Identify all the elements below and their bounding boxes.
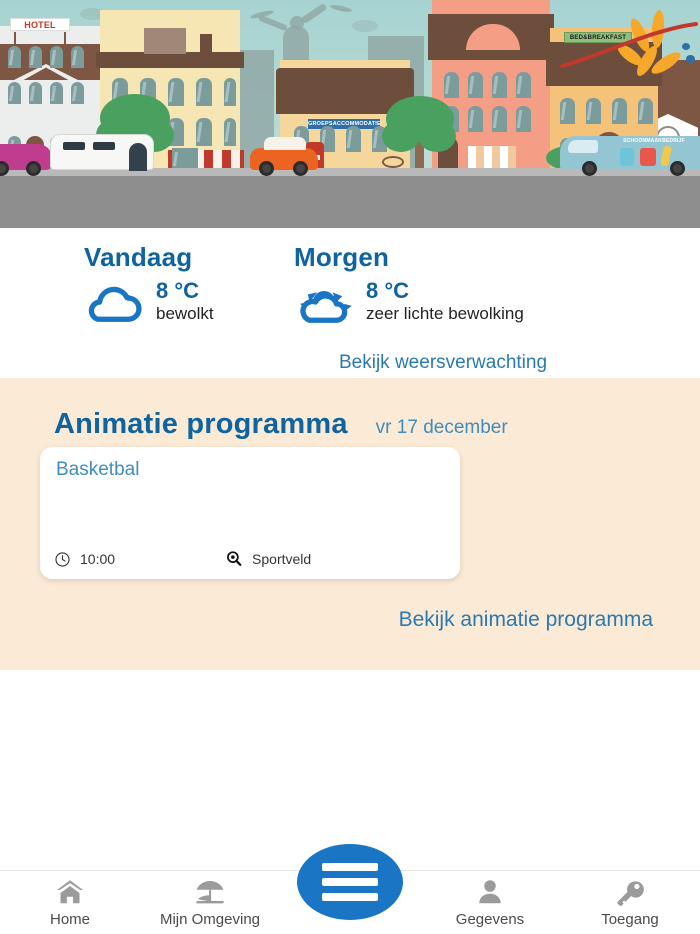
window (8, 46, 21, 68)
weather-tomorrow-body: 8 °C zeer lichte bewolking (294, 279, 624, 325)
beach-umbrella-icon (193, 877, 227, 907)
wheel (293, 161, 308, 176)
nav-label-mijn-omgeving: Mijn Omgeving (160, 911, 260, 928)
wheel (259, 161, 274, 176)
weather-today: Vandaag 8 °C bewolkt (84, 242, 294, 325)
orange-car (250, 148, 318, 170)
home-icon (54, 877, 86, 907)
window (71, 82, 84, 104)
wheel (582, 161, 597, 176)
weather-forecast-link[interactable]: Bekijk weersverwachting (339, 352, 547, 374)
caravan-door (129, 143, 147, 171)
animation-program-link[interactable]: Bekijk animatie programma (399, 608, 653, 632)
window (71, 46, 84, 68)
activity-time-label: 10:00 (80, 551, 115, 567)
confetti-dot (682, 43, 690, 50)
window (50, 82, 63, 104)
town-illustration-banner: HOTEL GRO (0, 0, 700, 228)
activity-location: Sportveld (225, 550, 311, 568)
window (560, 98, 575, 124)
nav-item-gegevens[interactable]: Gegevens (420, 871, 560, 934)
cleaning-service-van: SCHOONMAAKBEDRIJF (560, 136, 700, 170)
hamburger-bar-middle (322, 878, 378, 886)
nav-label-home: Home (50, 911, 90, 928)
tree-foliage (418, 120, 456, 152)
van-graphic (640, 148, 656, 166)
window (196, 118, 212, 146)
weather-tomorrow-description: zeer lichte bewolking (366, 303, 524, 324)
activity-time: 10:00 (54, 551, 115, 568)
person-icon (475, 877, 505, 907)
bicycle-a (382, 156, 404, 168)
window (468, 72, 483, 98)
hotel-sign-post-left (14, 32, 16, 44)
window (586, 98, 601, 124)
nav-label-toegang: Toegang (601, 911, 659, 928)
tree-foliage (382, 120, 420, 152)
window (29, 82, 42, 104)
road (0, 176, 700, 228)
wheel (670, 161, 685, 176)
wheel (26, 161, 41, 176)
activity-name: Basketbal (56, 459, 139, 481)
weather-tomorrow-title: Morgen (294, 242, 624, 273)
window (516, 106, 531, 132)
weather-today-text: 8 °C bewolkt (156, 279, 214, 324)
salmon-shop-window (468, 146, 516, 168)
weather-section: Vandaag 8 °C bewolkt Morgen (0, 228, 700, 378)
clock-icon (54, 551, 71, 568)
window (492, 72, 507, 98)
cleaning-service-sign: SCHOONMAAKBEDRIJF (612, 139, 696, 144)
hotel-sign: HOTEL (10, 18, 70, 31)
hamburger-menu-icon (322, 863, 378, 871)
hotel-sign-post-right (64, 32, 66, 44)
window (50, 46, 63, 68)
nav-label-gegevens: Gegevens (456, 911, 524, 928)
weather-tomorrow: Morgen (294, 242, 624, 325)
van-windshield (568, 140, 598, 153)
white-caravan (50, 134, 154, 170)
weather-today-title: Vandaag (84, 242, 294, 273)
window (638, 98, 653, 124)
animation-program-header: Animatie programma vr 17 december (0, 378, 700, 441)
weather-today-body: 8 °C bewolkt (84, 279, 294, 325)
van-graphic (620, 148, 634, 166)
cream-roof (96, 52, 244, 68)
window (468, 106, 483, 132)
location-search-icon (225, 550, 243, 568)
animation-program-date: vr 17 december (376, 417, 508, 439)
window (224, 78, 236, 106)
window (8, 82, 21, 104)
key-icon (614, 877, 646, 907)
weather-row: Vandaag 8 °C bewolkt Morgen (0, 242, 700, 325)
window (492, 106, 507, 132)
car-cabin (264, 137, 306, 150)
window (196, 78, 212, 106)
confetti-dot (686, 55, 695, 63)
weather-today-temperature: 8 °C (156, 279, 214, 302)
cream-chimney-small (200, 34, 212, 54)
weather-tomorrow-temperature: 8 °C (366, 279, 524, 302)
caravan-window (63, 142, 85, 150)
red-swoosh (560, 10, 700, 70)
window (346, 126, 361, 152)
window (172, 148, 198, 168)
weather-tomorrow-text: 8 °C zeer lichte bewolking (366, 279, 524, 324)
window (516, 72, 531, 98)
caravan-window (93, 142, 115, 150)
hamburger-menu-button[interactable] (297, 844, 403, 920)
window (168, 78, 184, 106)
nav-item-toegang[interactable]: Toegang (560, 871, 700, 934)
activity-card-footer: 10:00 Sportveld (54, 550, 446, 568)
window (224, 118, 236, 146)
cloud-icon (84, 279, 146, 325)
sun-behind-cloud-icon (294, 279, 356, 325)
nav-item-home[interactable]: Home (0, 871, 140, 934)
animation-program-title: Animatie programma (54, 408, 348, 441)
weather-today-description: bewolkt (156, 303, 214, 324)
cloud-puff-right (352, 20, 378, 32)
hamburger-bar-bottom (322, 893, 378, 901)
window (612, 98, 627, 124)
van-graphic (660, 145, 672, 166)
activity-location-label: Sportveld (252, 551, 311, 567)
group-accommodation-sign: GROEPSACCOMMODATIE (308, 119, 380, 129)
activity-card[interactable]: Basketbal 10:00 (40, 447, 460, 579)
window (29, 46, 42, 68)
magenta-car (0, 144, 52, 170)
cream-chimney (144, 28, 186, 54)
app-screen: HOTEL GRO (0, 0, 700, 934)
window (444, 72, 459, 98)
nav-item-mijn-omgeving[interactable]: Mijn Omgeving (140, 871, 280, 934)
bottom-navigation-bar: Home Mijn Omgeving Gegevens (0, 870, 700, 934)
